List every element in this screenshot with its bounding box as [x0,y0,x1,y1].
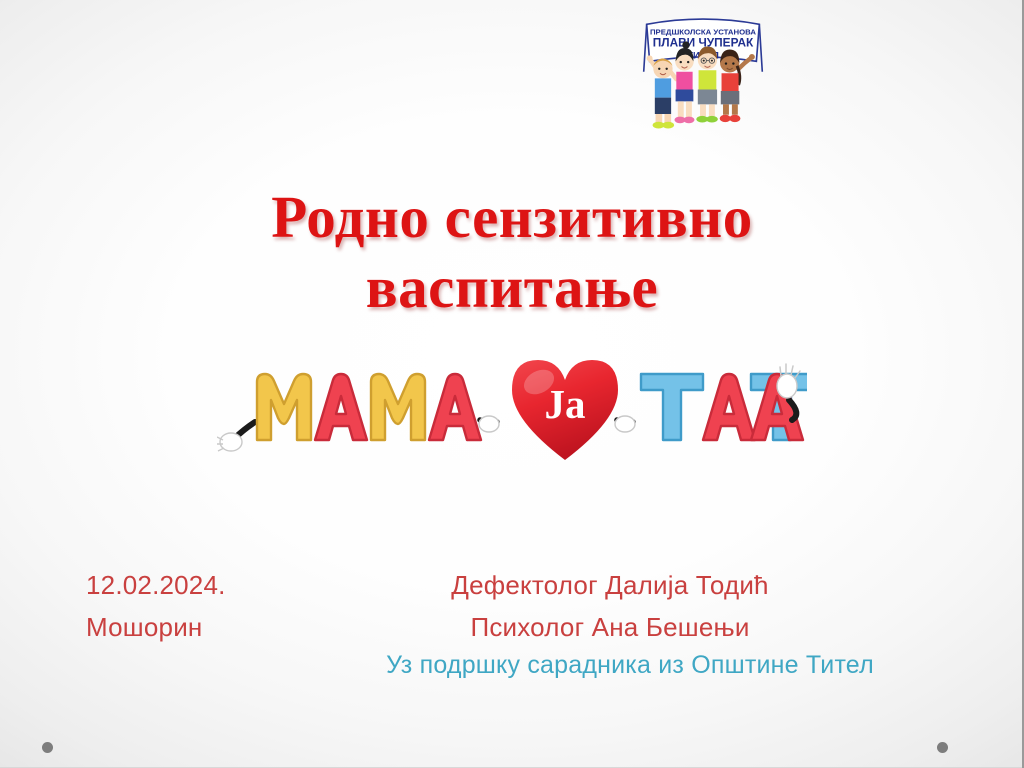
bottom-right-dot [937,742,948,753]
left-arm-icon [217,422,255,451]
presenter-2: Психолог Ана Бешењи [300,606,920,648]
event-date: 12.02.2024. [86,564,226,606]
mama-inner-hand-icon [479,416,499,432]
preschool-institution-logo: ПРЕДШКОЛСКА УСТАНОВА ПЛАВИ ЧУПЕРАК ТИТЕЛ [408,8,616,178]
support-note: Уз подршку сарадника из Општине Тител [300,648,960,682]
heart-label: Ja [545,381,586,427]
presenter-list: Дефектолог Далија Тодић Психолог Ана Беш… [300,564,920,648]
logo-child-yellow-shirt [696,47,717,123]
mama-ja-tata-graphic: Ja [217,344,807,470]
logo-illustration: ПРЕДШКОЛСКА УСТАНОВА ПЛАВИ ЧУПЕРАК ТИТЕЛ [408,8,998,134]
tata-inner-hand-icon [615,416,635,432]
mama-letters [257,374,481,440]
footer-block: 12.02.2024. Мошорин Дефектолог Далија То… [0,556,1024,686]
presentation-slide: ПРЕДШКОЛСКА УСТАНОВА ПЛАВИ ЧУПЕРАК ТИТЕЛ [0,0,1024,768]
page-title: Родно сензитивно васпитање [0,182,1024,322]
event-date-place: 12.02.2024. Мошорин [86,564,226,648]
event-place: Мошорин [86,606,226,648]
presenter-1: Дефектолог Далија Тодић [300,564,920,606]
title-line-1: Родно сензитивно [0,182,1024,252]
logo-child-blue-shirt [647,55,677,128]
mama-ja-tata-illustration: Ja [217,344,807,470]
heart-icon: Ja [512,360,618,460]
logo-child-pink-shirt [674,41,694,123]
logo-child-red-shirt [720,50,755,123]
title-line-2: васпитање [0,252,1024,322]
bottom-left-dot [42,742,53,753]
logo-banner-line-2: ПЛАВИ ЧУПЕРАК [653,36,754,50]
